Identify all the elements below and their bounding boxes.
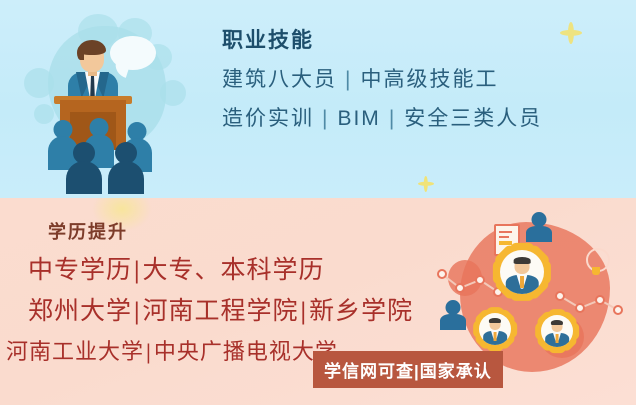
verification-badge: 学信网可查|国家承认 [313,351,503,388]
separator: | [144,339,154,364]
course-item: 造价实训 [222,107,314,130]
separator: | [337,68,360,91]
orange-blob [448,260,482,296]
course-item: BIM [337,107,380,130]
speaker-hair-side [77,46,84,60]
large-gear-icon [494,244,550,300]
course-item: 安全三类人员 [404,107,542,130]
small-gear-left-icon [474,308,516,350]
separator: | [132,257,143,284]
school-item: 郑州大学 [28,298,132,325]
vocational-skills-line-1: 建筑八大员|中高级技能工 [222,69,622,90]
vocational-skills-panel: 职业技能 建筑八大员|中高级技能工 造价实训|BIM|安全三类人员 [0,0,636,198]
audience-figure [108,142,144,194]
course-item: 中高级技能工 [360,68,498,91]
education-line-3: 河南工业大学|中央广播电视大学 [6,334,338,366]
separator: | [381,107,404,130]
audience-figure [66,142,102,194]
school-item: 中央广播电视大学 [154,339,338,364]
education-advancement-heading: 学历提升 [48,218,128,244]
education-line-1: 中专学历|大专、本科学历 [28,250,325,286]
vocational-skills-heading: 职业技能 [222,30,622,51]
program-item: 中专学历 [28,257,132,284]
small-gear-right-icon [536,310,578,352]
school-item: 河南工程学院 [143,298,299,325]
school-item: 新乡学院 [309,298,413,325]
education-line-2: 郑州大学|河南工程学院|新乡学院 [28,291,413,327]
separator: | [314,107,337,130]
promo-banner: 职业技能 建筑八大员|中高级技能工 造价实训|BIM|安全三类人员 [0,0,636,405]
lightbulb-icon [584,248,608,278]
separator: | [299,298,310,325]
vocational-skills-line-2: 造价实训|BIM|安全三类人员 [222,108,622,129]
separator: | [132,298,143,325]
school-item: 河南工业大学 [6,339,144,364]
person-icon [440,300,466,330]
program-item: 大专、本科学历 [143,257,325,284]
speaker-at-podium-illustration [18,8,208,194]
vocational-skills-text: 职业技能 建筑八大员|中高级技能工 造价实训|BIM|安全三类人员 [222,30,622,147]
background-blob [160,80,186,106]
course-item: 建筑八大员 [222,68,337,91]
person-icon [526,212,552,242]
background-blob [24,68,54,98]
